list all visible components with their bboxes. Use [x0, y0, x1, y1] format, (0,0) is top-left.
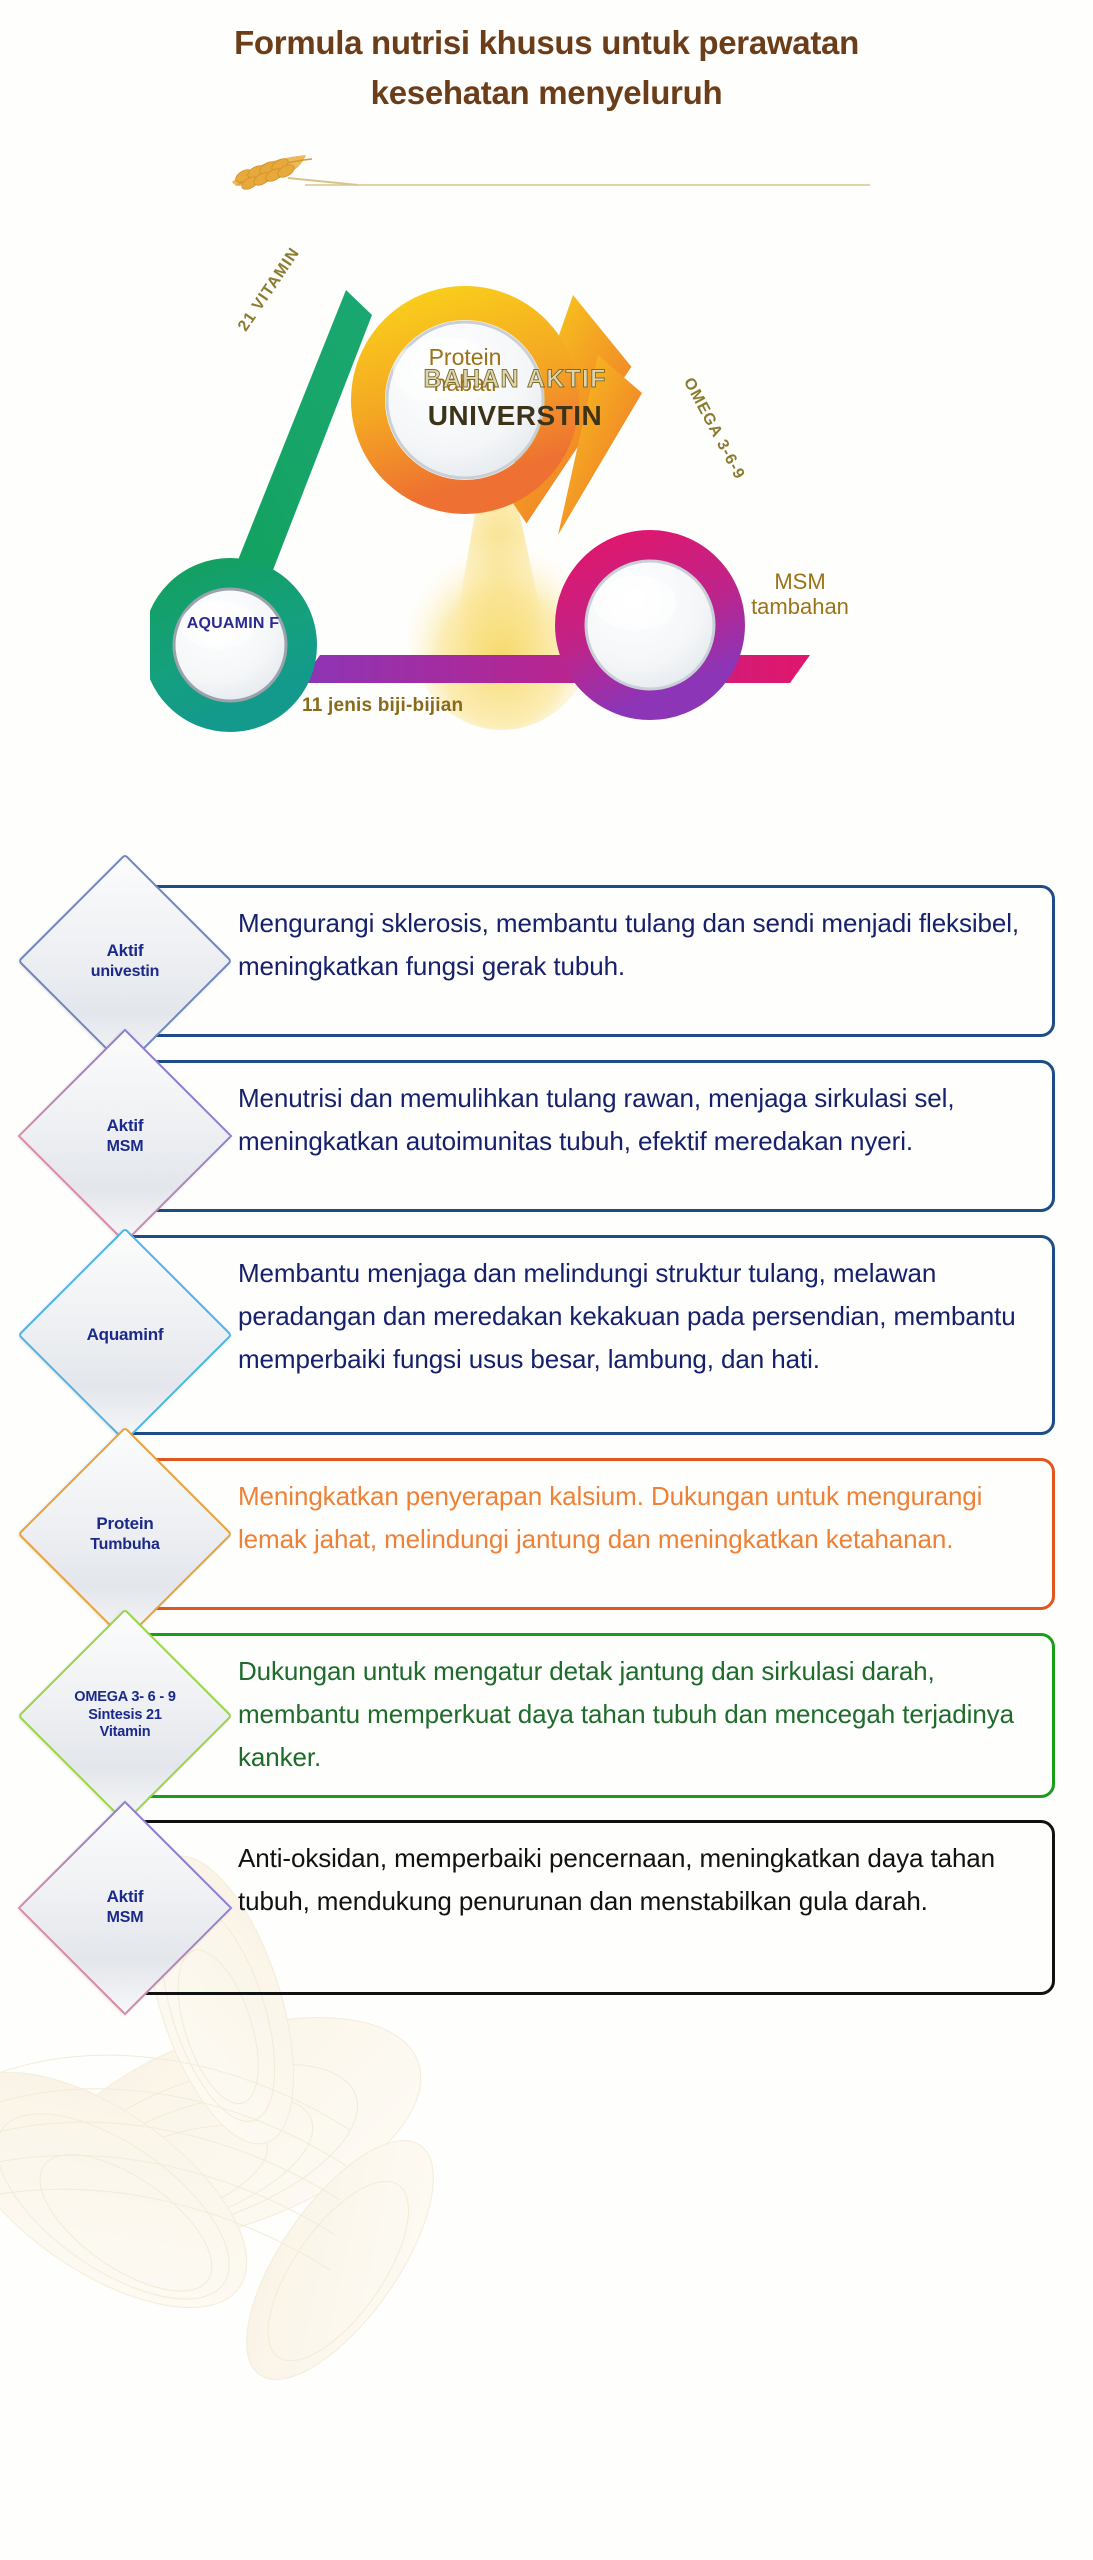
badge-label: Aktif MSM	[55, 1887, 195, 1927]
badge-diamond-univestin: Aktif univestin	[49, 885, 201, 1037]
badge-label: Aquaminf	[55, 1325, 195, 1346]
benefit-card-protein[interactable]: Protein Tumbuha Meningkatkan penyerapan …	[110, 1458, 1055, 1610]
msm-node	[570, 545, 730, 705]
badge-diamond-aquaminf: Aquaminf	[49, 1259, 201, 1411]
badge-label: Protein Tumbuha	[55, 1514, 195, 1554]
title-line-2: kesehatan menyeluruh	[0, 68, 1093, 118]
benefit-card-msm-1[interactable]: Aktif MSM Menutrisi dan memulihkan tulan…	[110, 1060, 1055, 1212]
badge-label: Aktif univestin	[55, 941, 195, 981]
badge-diamond-msm-1: Aktif MSM	[49, 1060, 201, 1212]
benefit-card-msm-2[interactable]: Aktif MSM Anti-oksidan, memperbaiki penc…	[110, 1820, 1055, 1995]
benefit-text: Dukungan untuk mengatur detak jantung da…	[113, 1636, 1052, 1795]
benefit-text: Anti-oksidan, memperbaiki pencernaan, me…	[113, 1823, 1052, 1939]
page-title: Formula nutrisi khusus untuk perawatan k…	[0, 18, 1093, 118]
title-line-1: Formula nutrisi khusus untuk perawatan	[0, 18, 1093, 68]
benefit-card-aquaminf[interactable]: Aquaminf Membantu menjaga dan melindungi…	[110, 1235, 1055, 1435]
badge-label: OMEGA 3- 6 - 9 Sintesis 21 Vitamin	[55, 1689, 195, 1742]
benefit-text: Membantu menjaga dan melindungi struktur…	[113, 1238, 1052, 1397]
diagram-center-brand: UNIVERSTIN	[395, 400, 635, 432]
badge-diamond-msm-2: Aktif MSM	[49, 1832, 201, 1984]
wheat-stalk-icon	[210, 148, 880, 192]
benefit-card-univestin[interactable]: Aktif univestin Mengurangi sklerosis, me…	[110, 885, 1055, 1037]
infographic-page: Formula nutrisi khusus untuk perawatan k…	[0, 0, 1093, 2560]
diagram-graphic	[150, 185, 950, 885]
benefit-text: Mengurangi sklerosis, membantu tulang da…	[113, 888, 1052, 1004]
badge-label: Aktif MSM	[55, 1116, 195, 1156]
ingredient-diagram: Protein nabati MSM tambahan AQUAMIN F OM…	[150, 185, 950, 885]
badge-diamond-protein: Protein Tumbuha	[49, 1458, 201, 1610]
benefit-card-omega[interactable]: OMEGA 3- 6 - 9 Sintesis 21 Vitamin Dukun…	[110, 1633, 1055, 1798]
aquamin-node	[158, 573, 302, 717]
badge-diamond-omega: OMEGA 3- 6 - 9 Sintesis 21 Vitamin	[49, 1640, 201, 1792]
benefit-text: Meningkatkan penyerapan kalsium. Dukunga…	[113, 1461, 1052, 1577]
diagram-center-headline: BAHAN AKTIF	[400, 365, 630, 394]
benefit-text: Menutrisi dan memulihkan tulang rawan, m…	[113, 1063, 1052, 1179]
